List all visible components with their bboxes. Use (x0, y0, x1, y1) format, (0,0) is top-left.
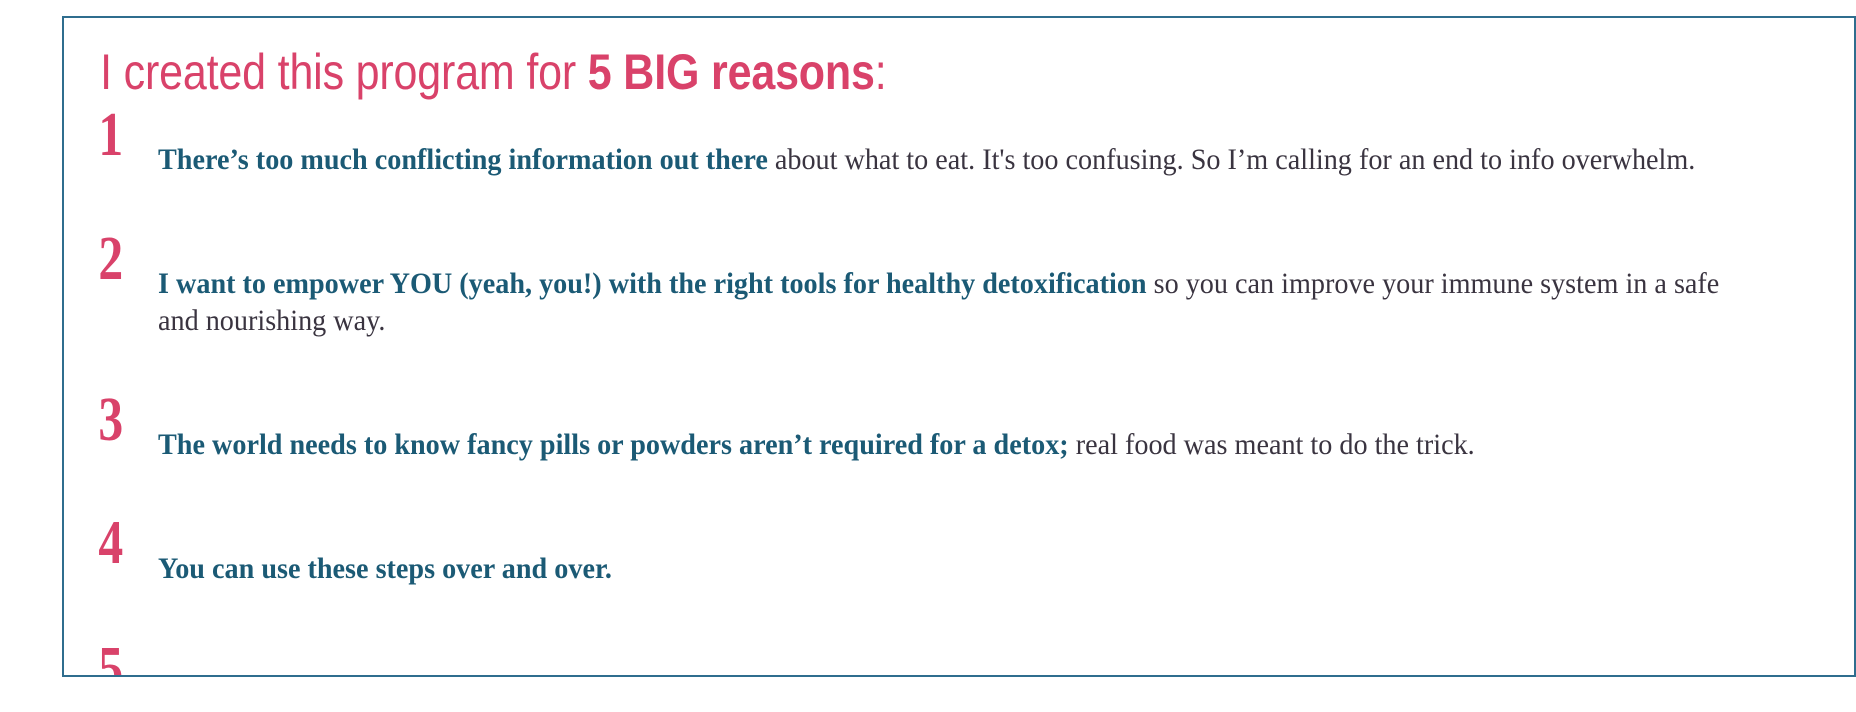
page-title: I created this program for 5 BIG reasons… (64, 18, 1603, 106)
page-title-prefix: I created this program for (100, 44, 588, 100)
reason-text: There’s too much conflicting information… (158, 136, 1743, 179)
reason-text: You deserve a quality program, packed wi… (158, 671, 1743, 677)
list-item: 5 You deserve a quality program, packed … (92, 642, 1818, 677)
reason-number: 5 (92, 642, 145, 677)
reason-lead: I want to empower YOU (yeah, you!) with … (158, 268, 1147, 300)
reason-number: 2 (92, 232, 145, 287)
reason-rest: about what to eat. It's too confusing. S… (768, 144, 1696, 176)
reason-text: The world needs to know fancy pills or p… (158, 421, 1743, 464)
reason-number: 3 (92, 393, 145, 448)
list-item: 3 The world needs to know fancy pills or… (92, 391, 1818, 493)
list-item: 1 There’s too much conflicting informati… (92, 106, 1818, 208)
reason-number: 1 (92, 108, 145, 163)
reasons-list: 1 There’s too much conflicting informati… (64, 106, 1854, 677)
reason-text: I want to empower YOU (yeah, you!) with … (158, 260, 1743, 340)
reason-text: You can use these steps over and over. (158, 545, 1743, 588)
list-item: 4 You can use these steps over and over. (92, 516, 1818, 618)
reason-rest: real food was meant to do the trick. (1069, 429, 1475, 461)
reasons-card: I created this program for 5 BIG reasons… (62, 16, 1856, 677)
page-title-suffix: : (875, 44, 887, 100)
reason-lead: You can use these steps over and over. (158, 553, 612, 585)
reason-number: 4 (92, 516, 145, 571)
list-item: 2 I want to empower YOU (yeah, you!) wit… (92, 230, 1818, 369)
reason-lead: The world needs to know fancy pills or p… (158, 429, 1069, 461)
page-title-emphasis: 5 BIG reasons (588, 44, 875, 100)
reason-lead: There’s too much conflicting information… (158, 144, 768, 176)
